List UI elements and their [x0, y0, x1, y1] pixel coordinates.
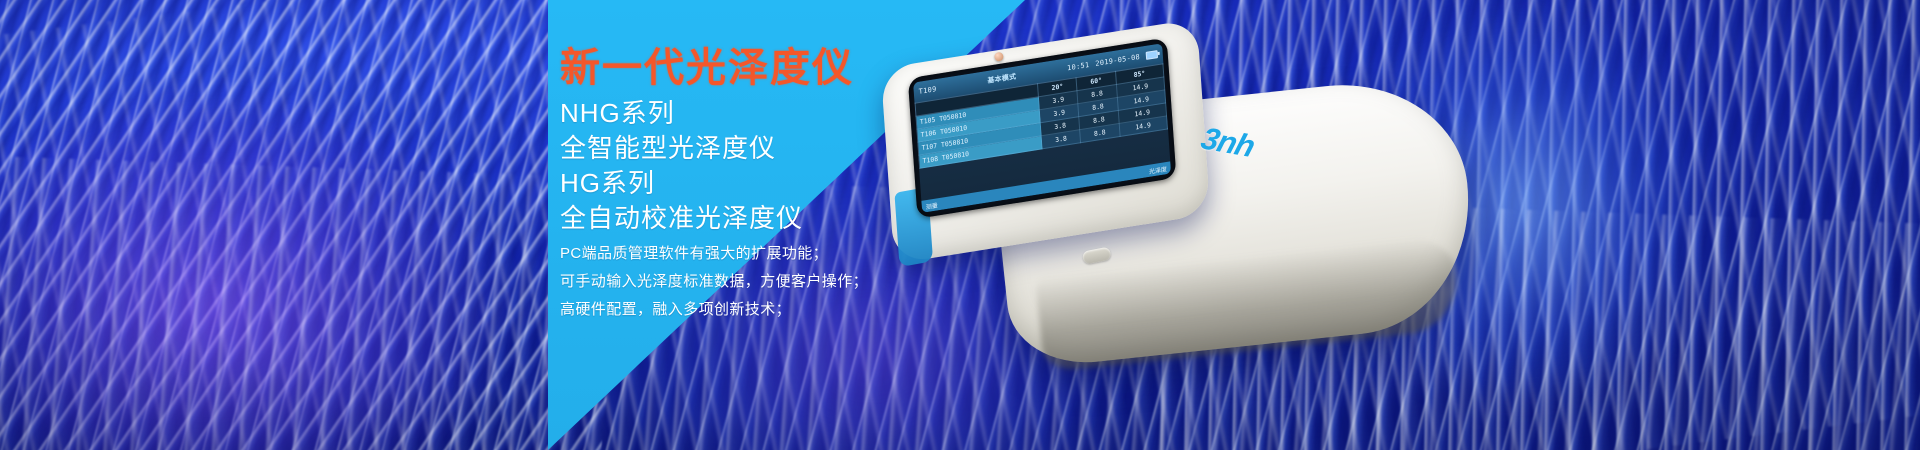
feature-list: PC端品质管理软件有强大的扩展功能； 可手动输入光泽度标准数据，方便客户操作； …	[560, 240, 1030, 324]
clock-label: 10:51	[1067, 61, 1090, 73]
date-label: 2019-05-08	[1095, 53, 1140, 68]
feature-item: 可手动输入光泽度标准数据，方便客户操作；	[560, 268, 1030, 296]
product-series-item: 全自动校准光泽度仪	[560, 201, 1030, 236]
product-series-list: NHG系列 全智能型光泽度仪 HG系列 全自动校准光泽度仪	[560, 96, 1030, 236]
footer-right-label[interactable]: 光泽度	[1149, 164, 1167, 176]
feature-item: 高硬件配置，融入多项创新技术；	[560, 296, 1030, 324]
product-series-item: 全智能型光泽度仪	[560, 131, 1030, 166]
battery-icon	[1146, 50, 1158, 60]
product-banner: 新一代光泽度仪 NHG系列 全智能型光泽度仪 HG系列 全自动校准光泽度仪 PC…	[0, 0, 1920, 450]
product-series-item: HG系列	[560, 166, 1030, 201]
product-series-item: NHG系列	[560, 96, 1030, 131]
page-title: 新一代光泽度仪	[560, 48, 854, 88]
banner-copy: 新一代光泽度仪 NHG系列 全智能型光泽度仪 HG系列 全自动校准光泽度仪 PC…	[560, 0, 1030, 450]
feature-item: PC端品质管理软件有强大的扩展功能；	[560, 240, 1030, 268]
